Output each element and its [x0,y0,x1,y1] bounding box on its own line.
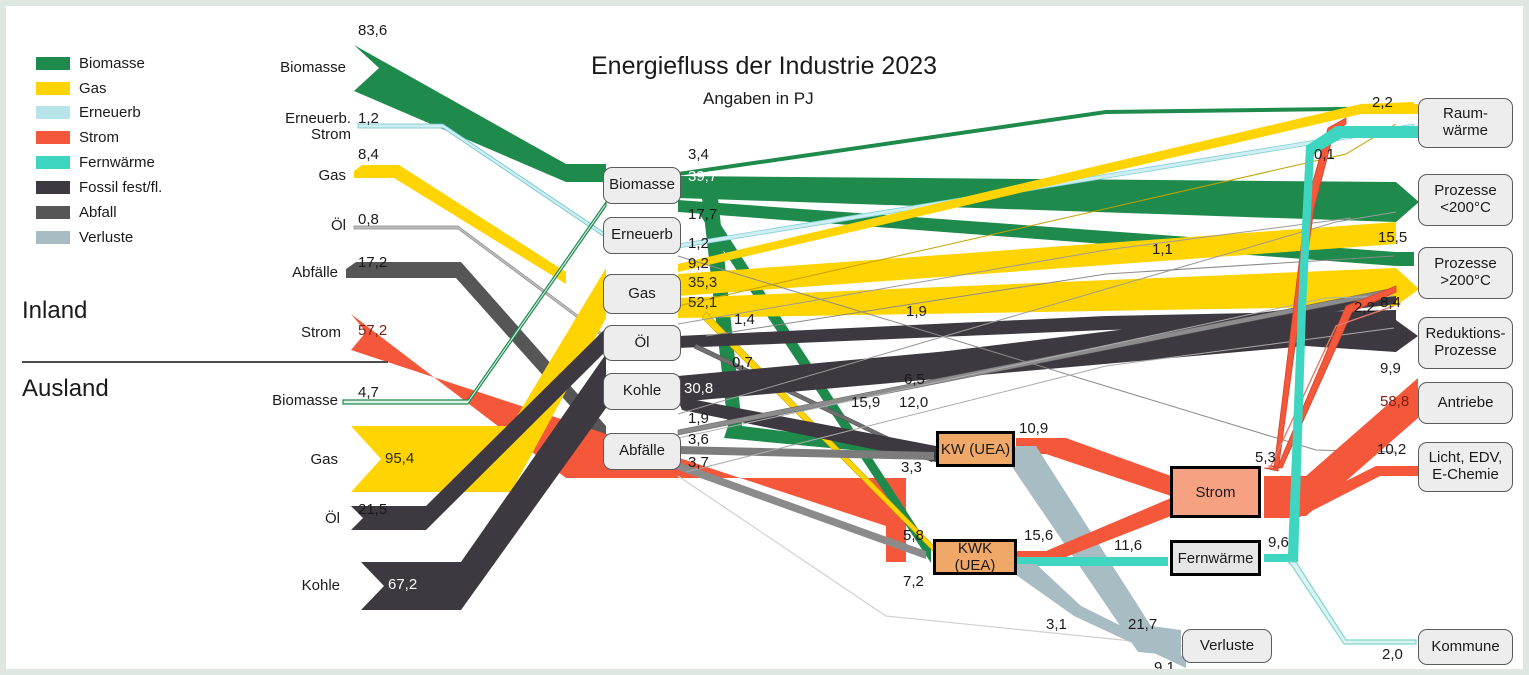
flow-value-biomasse-34: 3,4 [688,146,709,163]
flow-value-gas-92: 9,2 [688,255,709,272]
source-value-biomasse-inland: 83,6 [358,22,387,39]
carrier-node-biomasse-label: Biomasse [609,177,675,194]
flow-fw-to-kommune [1288,562,1416,644]
flow-value-biomasse-397: 39,7 [688,168,717,185]
conversion-node-fernwaerme[interactable]: Fernwärme [1170,540,1261,576]
flow-value-right-11: 1,1 [1152,241,1173,258]
flow-value-verluste-in-91: 9,1 [1154,659,1175,675]
sink-node-licht-edv-line2: E-Chemie [1432,467,1499,484]
source-label-erneuerb-strom-line2: Strom [196,126,351,143]
carrier-node-kohle[interactable]: Kohle [603,373,681,410]
legend-label-biomasse: Biomasse [79,55,145,72]
legend-swatch-strom [36,131,70,144]
sink-node-kommune-label: Kommune [1431,639,1499,656]
source-label-gas-inland: Gas [226,167,346,184]
flow-inland-biomasse [354,45,606,182]
page-subtitle: Angaben in PJ [703,89,814,109]
sink-node-prozesse-lt200-line1: Prozesse [1434,183,1497,200]
legend-item-erneuerb: Erneuerb [36,104,141,121]
flow-value-abfaelle-36: 3,6 [688,431,709,448]
region-label-inland: Inland [22,297,87,325]
sink-node-antriebe[interactable]: Antriebe [1418,382,1513,424]
flow-value-right-155: 15,5 [1378,229,1407,246]
sink-node-reduktions-prozesse-line1: Reduktions- [1425,326,1505,343]
legend-swatch-gas [36,82,70,95]
flow-value-verluste-in-31: 3,1 [1046,616,1067,633]
flow-value-strom-out-53: 5,3 [1255,449,1276,466]
conversion-node-kwk-label: KWK (UEA) [936,540,1014,574]
legend-label-strom: Strom [79,129,119,146]
flow-value-right-588: 58,8 [1380,393,1409,410]
flow-value-mid-19: 1,9 [906,303,927,320]
flow-inland-oel [354,226,606,339]
source-value-strom-inland: 57,2 [358,322,387,339]
carrier-node-abfaelle[interactable]: Abfälle [603,433,681,470]
flow-value-right-01: 0,1 [1314,146,1335,163]
sink-node-reduktions-prozesse-line2: Prozesse [1434,343,1497,360]
carrier-node-erneuerb[interactable]: Erneuerb [603,217,681,254]
sink-node-raumwaerme-line2: wärme [1443,123,1488,140]
flow-value-gas-14: 1,4 [734,311,755,328]
sink-node-prozesse-lt200[interactable]: Prozesse <200°C [1418,174,1513,226]
sink-node-reduktions-prozesse[interactable]: Reduktions- Prozesse [1418,317,1513,369]
flow-value-oel-07: 0,7 [732,354,753,371]
legend-label-verluste: Verluste [79,229,133,246]
legend-swatch-verluste [36,231,70,244]
carrier-node-gas-label: Gas [628,286,656,303]
carrier-node-oel[interactable]: Öl [603,325,681,361]
flow-value-oel-148: 14,8 [682,354,711,371]
flow-value-erneuerb-12: 1,2 [688,235,709,252]
carrier-node-gas[interactable]: Gas [603,274,681,314]
conversion-node-kw[interactable]: KW (UEA) [936,431,1015,467]
source-label-strom-inland: Strom [221,324,341,341]
flow-value-right-102: 10,2 [1377,441,1406,458]
sink-node-prozesse-gt200-line1: Prozesse [1434,256,1497,273]
flow-value-abfaelle-37: 3,7 [688,454,709,471]
legend-item-verluste: Verluste [36,229,133,246]
source-label-oel-inland: Öl [236,217,346,234]
sink-node-prozesse-lt200-line2: <200°C [1440,200,1491,217]
legend-swatch-abfall [36,206,70,219]
flow-value-gas-353: 35,3 [688,274,717,291]
flow-value-right-22: 2,2 [1354,299,1375,316]
flow-value-biomasse-177: 17,7 [688,206,717,223]
flow-biomasse-34 [678,106,1414,176]
flow-value-right-84: 8,4 [1380,294,1401,311]
source-value-abfaelle-inland: 17,2 [358,254,387,271]
legend-item-abfall: Abfall [36,204,117,221]
legend-label-gas: Gas [79,80,107,97]
legend-item-fossil: Fossil fest/fl. [36,179,162,196]
sankey-diagram-canvas: Biomasse Gas Erneuerb Strom Fernwärme Fo… [0,0,1529,675]
flow-kwk-to-fernwaerme [1016,557,1168,566]
source-label-biomasse-ausland: Biomasse [202,392,338,409]
source-label-kohle-ausland: Kohle [226,577,340,594]
flow-value-kohle-308: 30,8 [684,380,713,397]
source-value-oel-ausland: 21,5 [358,501,387,518]
source-value-kohle-ausland: 67,2 [388,576,417,593]
page-title: Energiefluss der Industrie 2023 [591,52,937,81]
carrier-node-oel-label: Öl [635,335,650,352]
sink-node-antriebe-label: Antriebe [1438,395,1494,412]
legend-swatch-erneuerb [36,106,70,119]
carrier-node-erneuerb-label: Erneuerb [611,227,673,244]
sink-node-raumwaerme-line1: Raum- [1443,106,1488,123]
source-value-biomasse-ausland: 4,7 [358,384,379,401]
source-value-oel-inland: 0,8 [358,211,379,228]
legend-label-fernwaerme: Fernwärme [79,154,155,171]
flow-value-abfaelle-19: 1,9 [688,410,709,427]
sink-node-licht-edv[interactable]: Licht, EDV, E-Chemie [1418,442,1513,492]
flow-value-right-22-top: 2,2 [1372,94,1393,111]
legend-swatch-fossil [36,181,70,194]
carrier-node-abfaelle-label: Abfälle [619,443,665,460]
flow-value-right-99: 9,9 [1380,360,1401,377]
flow-value-fw-out-96: 9,6 [1268,534,1289,551]
sink-node-licht-edv-line1: Licht, EDV, [1429,450,1503,467]
flow-value-verluste-in-217: 21,7 [1128,616,1157,633]
legend-label-erneuerb: Erneuerb [79,104,141,121]
source-label-gas-ausland: Gas [228,451,338,468]
legend-label-abfall: Abfall [79,204,117,221]
source-value-erneuerb-strom: 1,2 [358,110,379,127]
sink-node-raumwaerme[interactable]: Raum- wärme [1418,98,1513,148]
source-label-biomasse-inland: Biomasse [206,59,346,76]
region-label-ausland: Ausland [22,375,109,403]
carrier-node-kohle-label: Kohle [623,383,661,400]
region-divider [22,361,388,363]
legend-item-strom: Strom [36,129,119,146]
legend-swatch-fernwaerme [36,156,70,169]
legend-item-gas: Gas [36,80,107,97]
source-value-gas-ausland: 95,4 [385,450,414,467]
flow-value-kwk-out-116: 11,6 [1114,537,1142,554]
conversion-node-kwk[interactable]: KWK (UEA) [933,539,1017,575]
flow-value-kwk-in-72: 7,2 [903,573,924,590]
conversion-node-strom[interactable]: Strom [1170,466,1261,518]
flow-value-gas-521: 52,1 [688,294,717,311]
flow-value-kw-in-33: 3,3 [901,459,922,476]
flow-value-kw-out-109: 10,9 [1019,420,1048,437]
legend-item-biomasse: Biomasse [36,55,145,72]
source-label-erneuerb-strom-line1: Erneuerb. [196,110,351,127]
source-label-abfaelle-inland: Abfälle [216,264,338,281]
source-value-gas-inland: 8,4 [358,146,379,163]
legend-swatch-biomasse [36,57,70,70]
conversion-node-verluste-label: Verluste [1200,638,1254,655]
flow-value-mid-120: 12,0 [899,394,928,411]
flow-value-kwk-out-156: 15,6 [1024,527,1053,544]
source-label-oel-ausland: Öl [236,510,340,527]
sink-node-kommune[interactable]: Kommune [1418,629,1513,665]
flow-value-kwk-in-58: 5,8 [903,527,924,544]
conversion-node-verluste[interactable]: Verluste [1182,629,1272,663]
legend-label-fossil: Fossil fest/fl. [79,179,162,196]
sink-node-prozesse-gt200[interactable]: Prozesse >200°C [1418,247,1513,299]
conversion-node-kw-label: KW (UEA) [941,441,1010,458]
flow-value-kommune-in-20: 2,0 [1382,646,1403,663]
conversion-node-fernwaerme-label: Fernwärme [1178,550,1254,567]
sink-node-prozesse-gt200-line2: >200°C [1440,273,1491,290]
carrier-node-biomasse[interactable]: Biomasse [603,167,681,204]
flow-value-mid-159: 15,9 [851,394,880,411]
legend-item-fernwaerme: Fernwärme [36,154,155,171]
conversion-node-strom-label: Strom [1195,484,1235,501]
flow-value-mid-65: 6,5 [904,371,925,388]
